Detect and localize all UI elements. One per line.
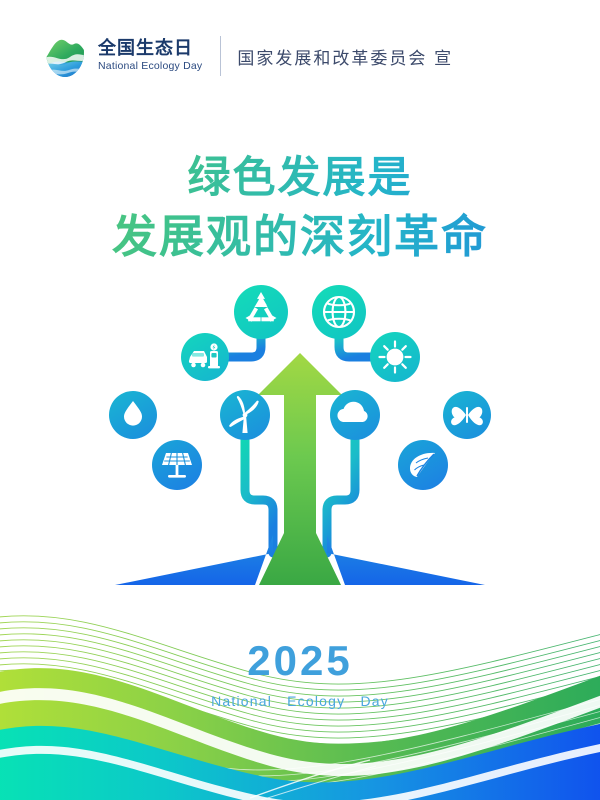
ecology-day-mountain-water-emblem-icon: [42, 33, 88, 79]
node-butterfly: [443, 391, 491, 439]
node-recycle: [234, 285, 288, 339]
node-ev-charging: [181, 333, 229, 381]
eco-tree-graphic: [105, 285, 495, 595]
butterfly-icon: [451, 407, 483, 425]
node-globe: [312, 285, 366, 339]
event-word-3: Day: [360, 693, 389, 709]
poster-header: 全国生态日 National Ecology Day 国家发展和改革委员会 宣: [42, 32, 453, 80]
node-sun: [370, 332, 420, 382]
year-block: 2025 National Ecology Day: [0, 640, 600, 709]
event-word-2: Ecology: [287, 693, 345, 709]
poster-canvas: 全国生态日 National Ecology Day 国家发展和改革委员会 宣 …: [0, 0, 600, 800]
issuing-organization: 国家发展和改革委员会 宣: [237, 44, 453, 69]
year-label: 2025: [0, 640, 600, 682]
logo-wordmark: 全国生态日 National Ecology Day: [98, 39, 202, 72]
node-wind: [220, 390, 270, 440]
node-cloud: [330, 390, 380, 440]
title-line-1: 绿色发展是: [0, 150, 600, 207]
sun-icon: [387, 349, 404, 366]
node-leaf: [398, 440, 448, 490]
logo-title-en: National Ecology Day: [98, 61, 202, 73]
node-solar: [152, 440, 202, 490]
logo-title-cn: 全国生态日: [98, 39, 202, 59]
node-water: [109, 391, 157, 439]
event-name-en: National Ecology Day: [0, 693, 600, 709]
title-line-2: 发展观的深刻革命: [0, 207, 600, 266]
header-divider: [220, 36, 221, 76]
event-word-1: National: [211, 693, 272, 709]
poster-title: 绿色发展是 发展观的深刻革命: [0, 150, 600, 266]
